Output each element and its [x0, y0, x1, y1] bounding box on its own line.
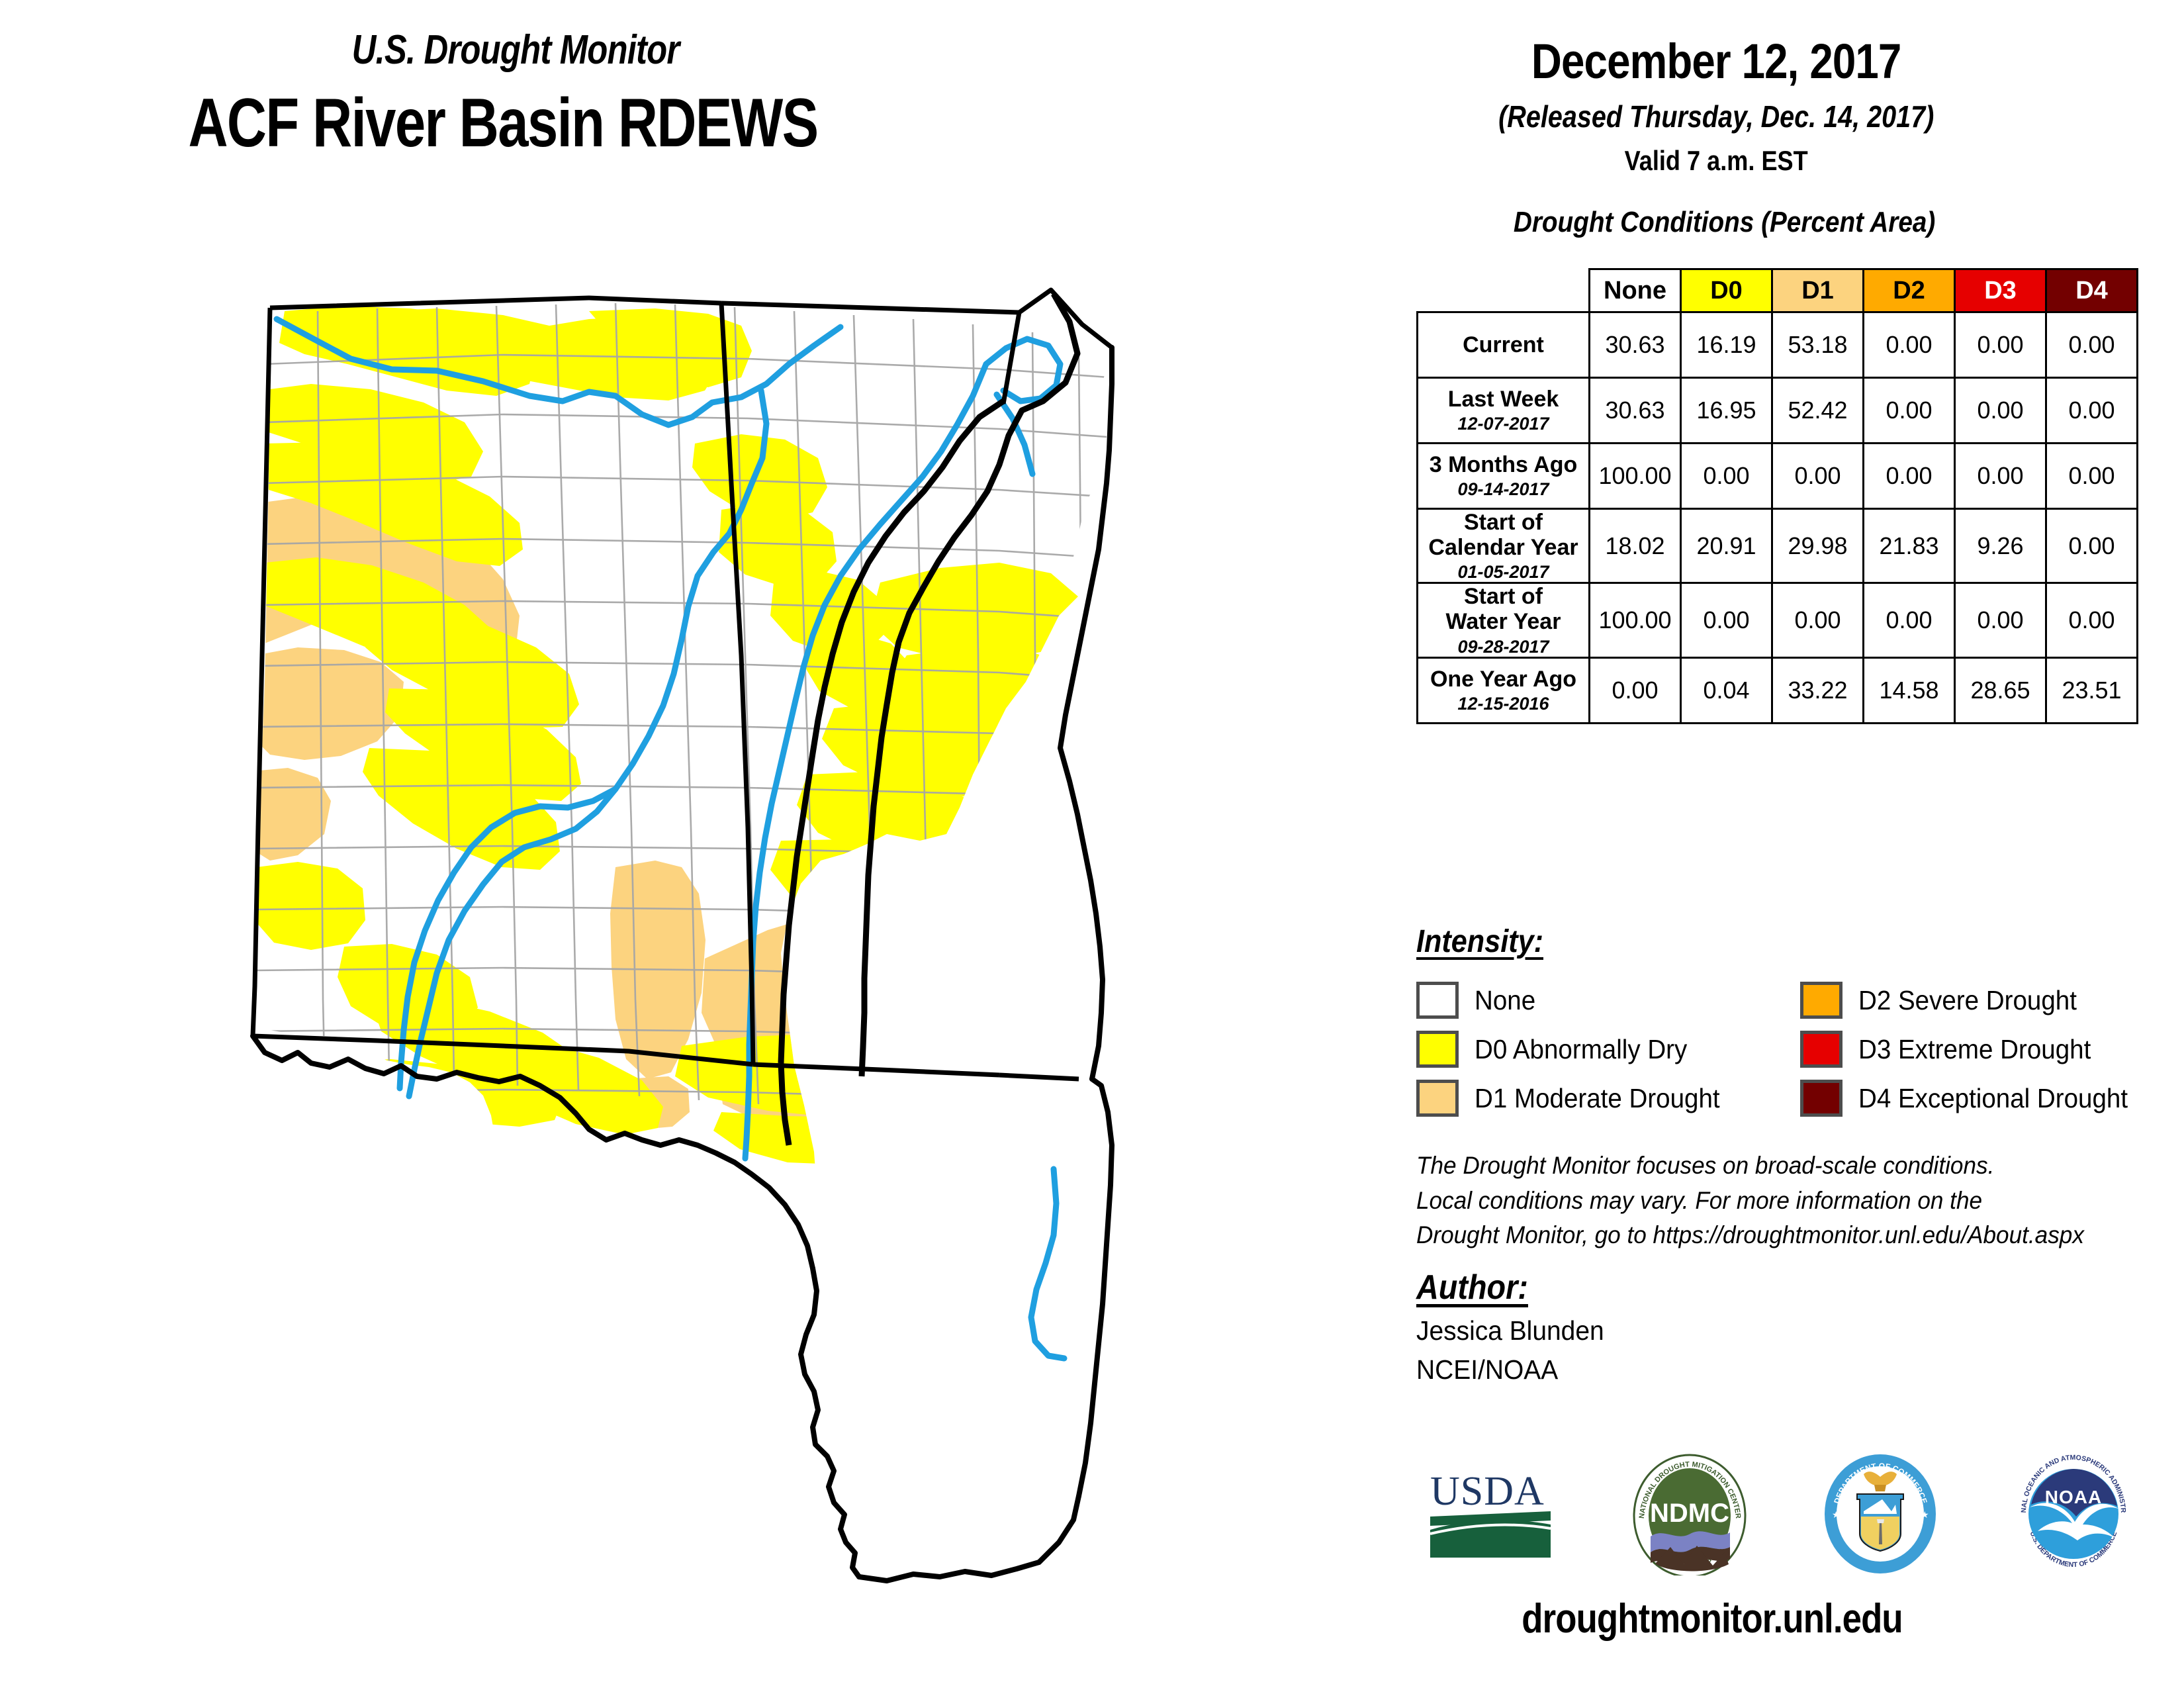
table-cell: 53.18: [1772, 312, 1864, 378]
legend-item: D4 Exceptional Drought: [1800, 1080, 2171, 1117]
row-date: 12-15-2016: [1418, 694, 1588, 714]
table-cell: 0.00: [1864, 312, 1955, 378]
corner-cell: [1418, 269, 1590, 312]
table-cell: 0.00: [1772, 444, 1864, 509]
table-cell: 0.00: [2046, 444, 2138, 509]
table-cell: 33.22: [1772, 657, 1864, 723]
col-header-none: None: [1590, 269, 1681, 312]
legend-swatch: [1800, 1080, 1843, 1117]
legend-grid: NoneD2 Severe DroughtD0 Abnormally DryD3…: [1416, 976, 2158, 1123]
svg-text:★: ★: [1921, 1509, 1929, 1520]
row-label: 3 Months Ago09-14-2017: [1418, 444, 1590, 509]
footer-url[interactable]: droughtmonitor.unl.edu: [1363, 1595, 2061, 1642]
legend-label: D0 Abnormally Dry: [1475, 1034, 1687, 1065]
logo-row: USDA NATIONAL DROUGHT MITIGATION CENTER: [1390, 1440, 2171, 1592]
row-date: 01-05-2017: [1418, 562, 1588, 582]
legend-item: D1 Moderate Drought: [1416, 1080, 1800, 1117]
table-cell: 30.63: [1590, 378, 1681, 444]
table-header-row: None D0 D1 D2 D3 D4: [1418, 269, 2138, 312]
table-row: Current30.6316.1953.180.000.000.00: [1418, 312, 2138, 378]
col-header-d0: D0: [1681, 269, 1772, 312]
svg-text:NOAA: NOAA: [2045, 1487, 2102, 1507]
page-title: ACF River Basin RDEWS: [0, 84, 1006, 163]
drought-conditions-table[interactable]: None D0 D1 D2 D3 D4 Current30.6316.1953.…: [1416, 268, 2138, 724]
author-title: Author:: [1416, 1268, 1528, 1307]
table-cell: 100.00: [1590, 444, 1681, 509]
table-cell: 0.00: [2046, 378, 2138, 444]
table-cell: 28.65: [1955, 657, 2046, 723]
table-cell: 0.00: [2046, 312, 2138, 378]
row-label: Last Week12-07-2017: [1418, 378, 1590, 444]
table-cell: 0.00: [1681, 583, 1772, 657]
release-date: (Released Thursday, Dec. 14, 2017): [1363, 99, 2069, 134]
col-header-d4: D4: [2046, 269, 2138, 312]
table-row: Last Week12-07-201730.6316.9552.420.000.…: [1418, 378, 2138, 444]
table-title: Drought Conditions (Percent Area): [1363, 206, 2085, 239]
usda-logo: USDA: [1428, 1465, 1557, 1568]
table-cell: 52.42: [1772, 378, 1864, 444]
table-cell: 16.95: [1681, 378, 1772, 444]
table-cell: 30.63: [1590, 312, 1681, 378]
row-date: 09-28-2017: [1418, 637, 1588, 657]
table-cell: 0.00: [1681, 444, 1772, 509]
row-date: 09-14-2017: [1418, 479, 1588, 499]
table-row: 3 Months Ago09-14-2017100.000.000.000.00…: [1418, 444, 2138, 509]
disclaimer-line-1: The Drought Monitor focuses on broad-sca…: [1416, 1149, 2133, 1184]
legend-label: D3 Extreme Drought: [1858, 1034, 2091, 1065]
legend-label: D4 Exceptional Drought: [1858, 1083, 2128, 1114]
legend-item: D0 Abnormally Dry: [1416, 1031, 1800, 1068]
table-body: Current30.6316.1953.180.000.000.00Last W…: [1418, 312, 2138, 724]
legend-swatch: [1416, 982, 1459, 1019]
intensity-title: Intensity:: [1416, 923, 1543, 960]
table-cell: 29.98: [1772, 509, 1864, 583]
legend-label: D2 Severe Drought: [1858, 985, 2077, 1016]
table-cell: 0.00: [1955, 583, 2046, 657]
row-label: One Year Ago12-15-2016: [1418, 657, 1590, 723]
legend-swatch: [1800, 1031, 1843, 1068]
disclaimer-line-3: Drought Monitor, go to https://droughtmo…: [1416, 1218, 2133, 1253]
table-cell: 0.00: [2046, 509, 2138, 583]
table-cell: 21.83: [1864, 509, 1955, 583]
table-cell: 0.00: [1864, 378, 1955, 444]
table-cell: 0.00: [1955, 378, 2046, 444]
svg-text:★: ★: [1832, 1509, 1841, 1520]
svg-text:NDMC: NDMC: [1650, 1499, 1729, 1528]
row-label: Start ofCalendar Year01-05-2017: [1418, 509, 1590, 583]
map-svg[interactable]: [218, 285, 1145, 1595]
col-header-d2: D2: [1864, 269, 1955, 312]
table-cell: 0.04: [1681, 657, 1772, 723]
table-cell: 18.02: [1590, 509, 1681, 583]
table-cell: 14.58: [1864, 657, 1955, 723]
lake-okeechobee: [957, 1332, 1018, 1395]
title-block: U.S. Drought Monitor ACF River Basin RDE…: [0, 26, 1257, 163]
row-label: Current: [1418, 312, 1590, 378]
disclaimer: The Drought Monitor focuses on broad-sca…: [1416, 1149, 2133, 1253]
table-cell: 16.19: [1681, 312, 1772, 378]
page-subtitle: U.S. Drought Monitor: [0, 26, 1031, 73]
table-cell: 23.51: [2046, 657, 2138, 723]
svg-text:USDA: USDA: [1430, 1469, 1545, 1514]
legend-label: D1 Moderate Drought: [1475, 1083, 1720, 1114]
legend-item: None: [1416, 982, 1800, 1019]
table-cell: 0.00: [2046, 583, 2138, 657]
legend-item: D3 Extreme Drought: [1800, 1031, 2171, 1068]
col-header-d1: D1: [1772, 269, 1864, 312]
table-cell: 100.00: [1590, 583, 1681, 657]
table-cell: 9.26: [1955, 509, 2046, 583]
col-header-d3: D3: [1955, 269, 2046, 312]
table-cell: 0.00: [1772, 583, 1864, 657]
intensity-legend: Intensity: NoneD2 Severe DroughtD0 Abnor…: [1416, 923, 2158, 1123]
table-row: Start ofWater Year09-28-2017100.000.000.…: [1418, 583, 2138, 657]
table-row: One Year Ago12-15-20160.000.0433.2214.58…: [1418, 657, 2138, 723]
author-name: Jessica Blunden: [1416, 1315, 1604, 1346]
valid-time: Valid 7 a.m. EST: [1363, 145, 2069, 177]
noaa-logo: NATIONAL OCEANIC AND ATMOSPHERIC ADMINIS…: [2014, 1453, 2133, 1579]
row-label: Start ofWater Year09-28-2017: [1418, 583, 1590, 657]
ndmc-logo: NATIONAL DROUGHT MITIGATION CENTER UNIVE…: [1632, 1453, 1748, 1579]
table-cell: 0.00: [1955, 312, 2046, 378]
author-affiliation: NCEI/NOAA: [1416, 1354, 1604, 1385]
report-date: December 12, 2017: [1363, 33, 2069, 89]
row-date: 12-07-2017: [1418, 414, 1588, 434]
table-cell: 0.00: [1864, 444, 1955, 509]
date-block: December 12, 2017 (Released Thursday, De…: [1363, 0, 2184, 177]
table-cell: 0.00: [1590, 657, 1681, 723]
legend-item: D2 Severe Drought: [1800, 982, 2171, 1019]
disclaimer-line-2: Local conditions may vary. For more info…: [1416, 1184, 2133, 1219]
author-section: Author: Jessica Blunden NCEI/NOAA: [1416, 1268, 1614, 1385]
info-panel: December 12, 2017 (Released Thursday, De…: [1363, 0, 2184, 1688]
legend-swatch: [1416, 1031, 1459, 1068]
drought-map[interactable]: [218, 285, 1145, 1595]
table-cell: 0.00: [1864, 583, 1955, 657]
table-cell: 0.00: [1955, 444, 2046, 509]
table-cell: 20.91: [1681, 509, 1772, 583]
table-row: Start ofCalendar Year01-05-201718.0220.9…: [1418, 509, 2138, 583]
legend-swatch: [1416, 1080, 1459, 1117]
legend-label: None: [1475, 985, 1535, 1016]
legend-swatch: [1800, 982, 1843, 1019]
dept-commerce-logo: DEPARTMENT OF COMMERCE UNITED STATES OF …: [1823, 1453, 1938, 1579]
